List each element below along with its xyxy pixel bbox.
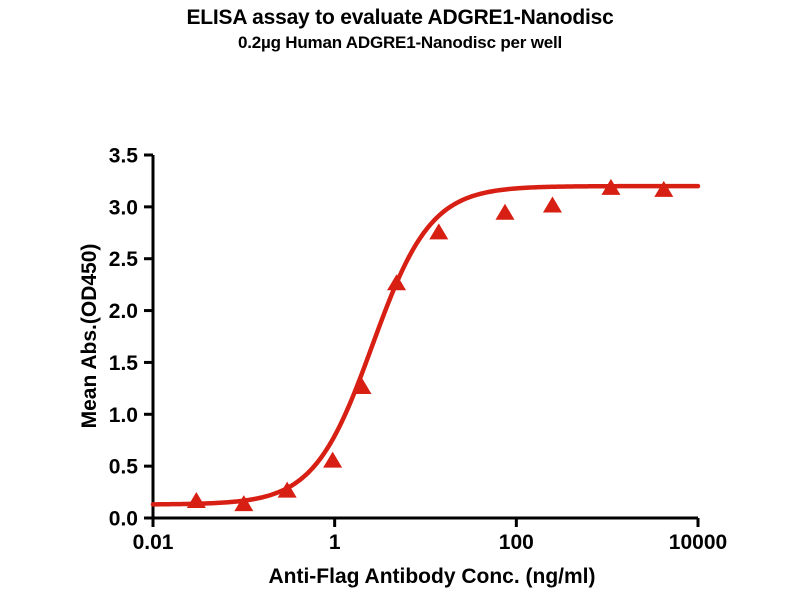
fit-curve xyxy=(153,186,698,504)
y-axis-tick-labels: 0.00.51.01.52.02.53.03.5 xyxy=(109,145,139,531)
data-point-marker xyxy=(495,204,514,220)
y-tick-label: 3.0 xyxy=(109,196,138,219)
data-point-markers xyxy=(187,179,673,511)
data-point-marker xyxy=(387,274,406,290)
elisa-assay-figure: ELISA assay to evaluate ADGRE1-Nanodisc … xyxy=(0,0,800,600)
plot-area: 0.00.51.01.52.02.53.03.5 0.01110010000 M… xyxy=(0,0,800,600)
y-tick-label: 0.0 xyxy=(109,508,138,531)
axis-frame xyxy=(144,155,698,527)
x-axis-title: Anti-Flag Antibody Conc. (ng/ml) xyxy=(268,565,595,588)
y-tick-label: 2.0 xyxy=(109,300,138,323)
y-tick-label: 0.5 xyxy=(109,456,139,479)
y-axis-title: Mean Abs.(OD450) xyxy=(78,244,101,429)
x-tick-label: 10000 xyxy=(669,531,727,554)
data-point-marker xyxy=(187,492,206,508)
x-tick-label: 100 xyxy=(499,531,534,554)
x-axis-tick-labels: 0.01110010000 xyxy=(133,531,728,554)
data-point-marker xyxy=(654,181,673,197)
y-tick-label: 1.0 xyxy=(109,404,138,427)
data-point-marker xyxy=(543,196,562,212)
y-tick-label: 1.5 xyxy=(109,352,139,375)
y-tick-label: 2.5 xyxy=(109,248,139,271)
y-tick-label: 3.5 xyxy=(109,145,139,168)
x-tick-label: 1 xyxy=(329,531,341,554)
x-tick-label: 0.01 xyxy=(133,531,174,554)
